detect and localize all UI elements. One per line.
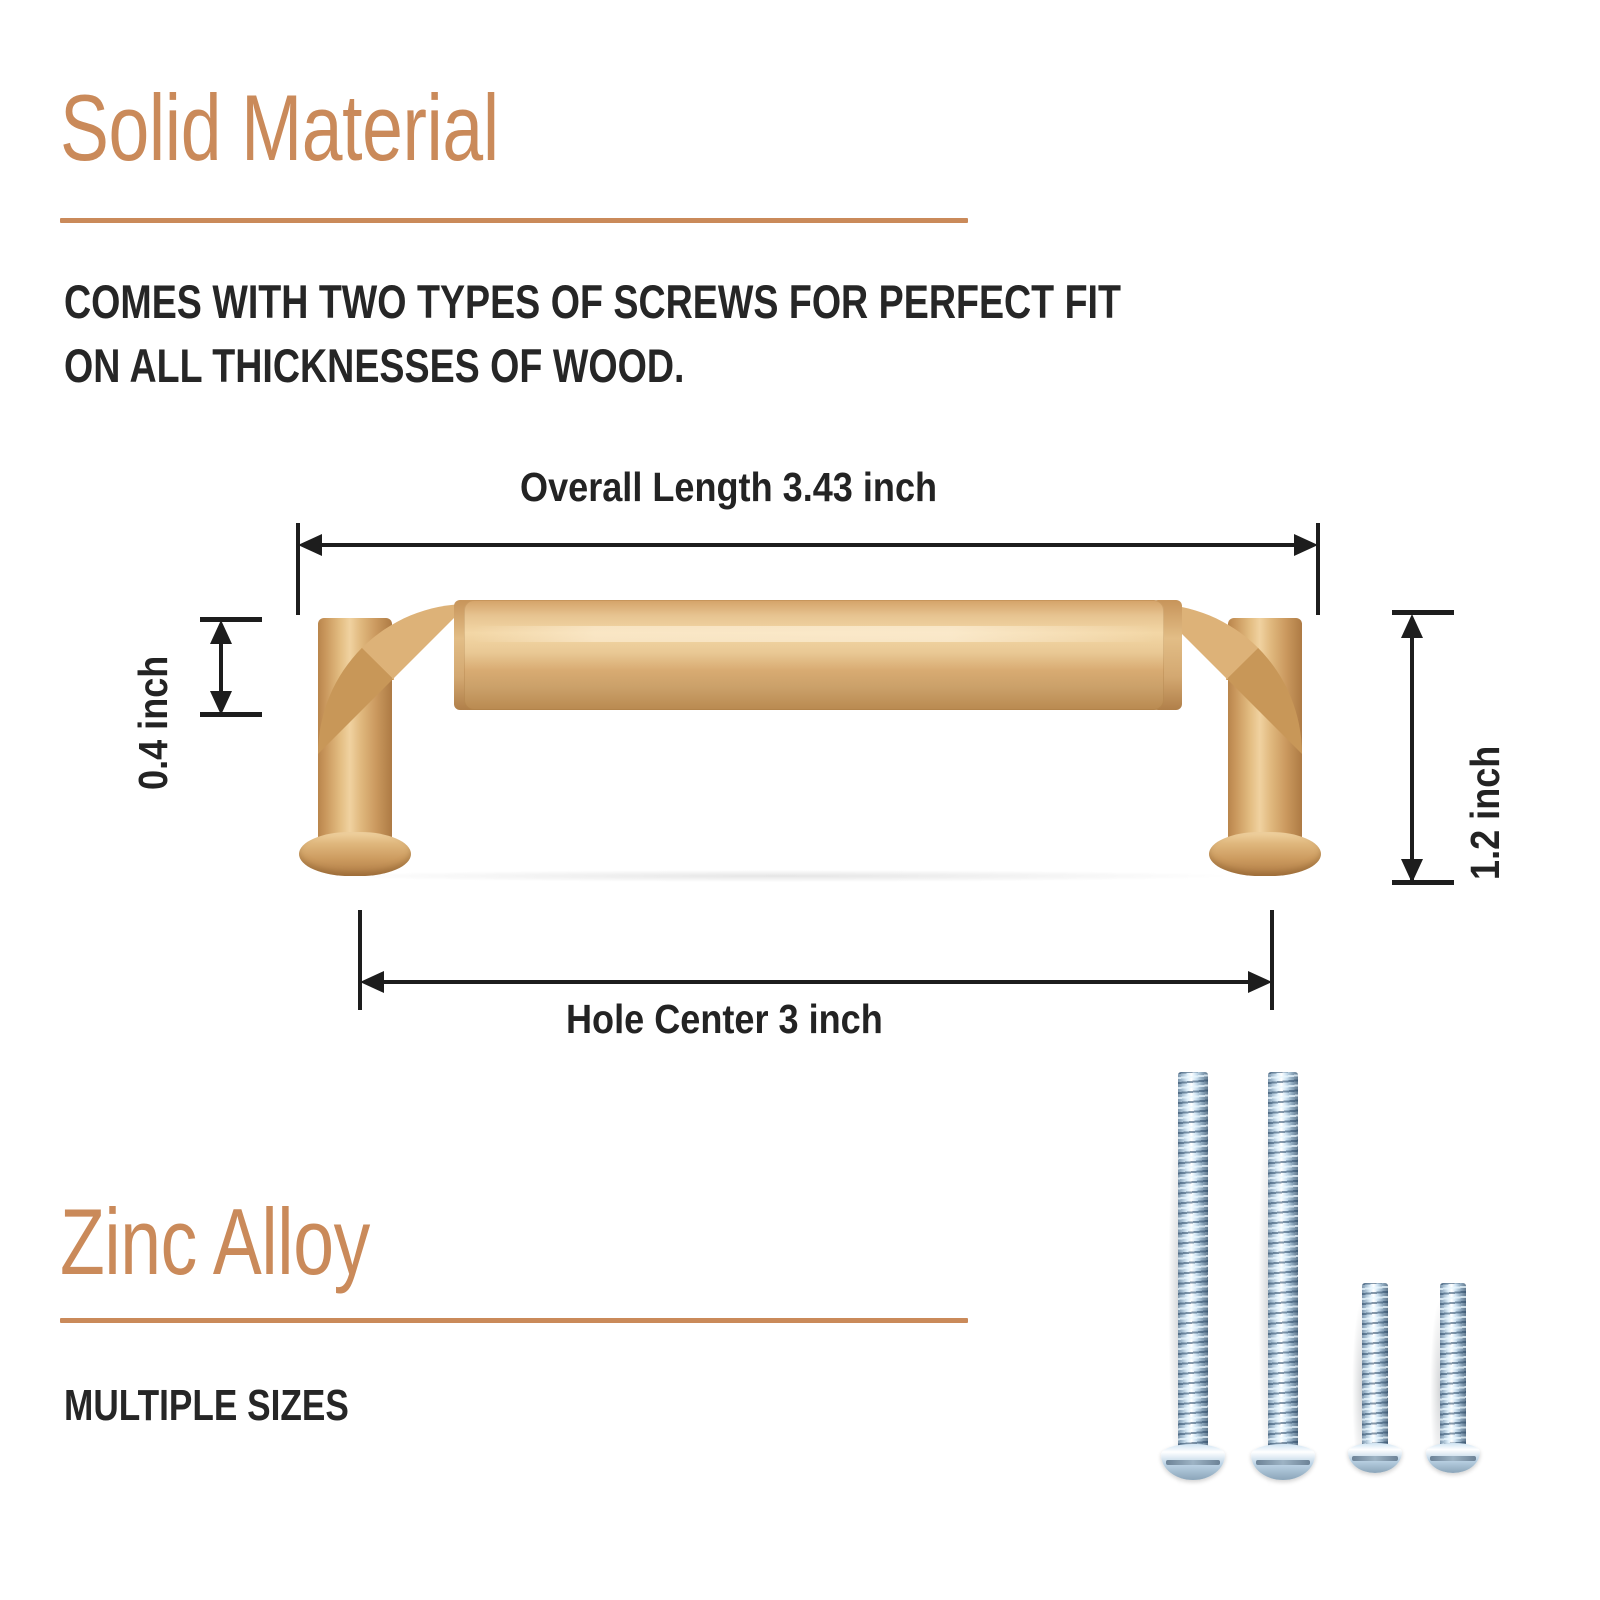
extension-line-hole-right — [1270, 910, 1274, 1010]
section-title-zinc-alloy: Zinc Alloy — [60, 1192, 370, 1292]
arrowhead-hole-left — [360, 971, 384, 993]
dimension-arrow-projection — [1410, 622, 1414, 882]
arrowhead-bar-diameter-bottom — [210, 691, 232, 715]
handle-drop-shadow — [336, 870, 1226, 882]
handle-center-bar — [464, 600, 1164, 710]
long-screw-1-shank — [1178, 1072, 1208, 1452]
arrowhead-hole-right — [1248, 971, 1272, 993]
arrowhead-projection-bottom — [1401, 859, 1423, 883]
screws-illustration — [1120, 1050, 1520, 1550]
arrowhead-bar-diameter-top — [210, 620, 232, 644]
short-screw-1-slot — [1352, 1456, 1398, 1461]
handle-bar-highlight — [472, 626, 1156, 642]
arrowhead-projection-top — [1401, 614, 1423, 638]
section-divider-zinc-alloy — [60, 1318, 968, 1323]
section-divider-solid-material — [60, 218, 968, 223]
extension-line-hole-left — [358, 910, 362, 1010]
arrowhead-overall-right — [1294, 534, 1318, 556]
long-screw-1-slot — [1166, 1460, 1220, 1465]
long-screw-2-slot — [1256, 1460, 1310, 1465]
dimension-label-bar-diameter: 0.4 inch — [130, 656, 177, 790]
long-screw-2-shank — [1268, 1072, 1298, 1452]
short-screw-1-shank — [1362, 1283, 1388, 1451]
infographic-canvas: Solid Material COMES WITH TWO TYPES OF S… — [0, 0, 1600, 1600]
dimension-label-overall-length: Overall Length 3.43 inch — [520, 464, 937, 511]
short-screw-2-slot — [1430, 1456, 1476, 1461]
dimension-label-projection: 1.2 inch — [1462, 746, 1509, 880]
dimension-arrow-hole-center — [372, 980, 1262, 984]
dimension-label-hole-center: Hole Center 3 inch — [566, 996, 883, 1043]
section-body-zinc-alloy: MULTIPLE SIZES — [64, 1378, 784, 1434]
short-screw-2-shank — [1440, 1283, 1466, 1451]
dimension-arrow-overall-length — [310, 543, 1308, 547]
cabinet-pull-handle-illustration — [296, 588, 1322, 888]
handle-base-flange-right — [1209, 832, 1321, 876]
arrowhead-overall-left — [298, 534, 322, 556]
handle-base-flange-left — [299, 832, 411, 876]
section-body-solid-material: COMES WITH TWO TYPES OF SCREWS FOR PERFE… — [64, 270, 1528, 398]
section-title-solid-material: Solid Material — [60, 78, 499, 178]
